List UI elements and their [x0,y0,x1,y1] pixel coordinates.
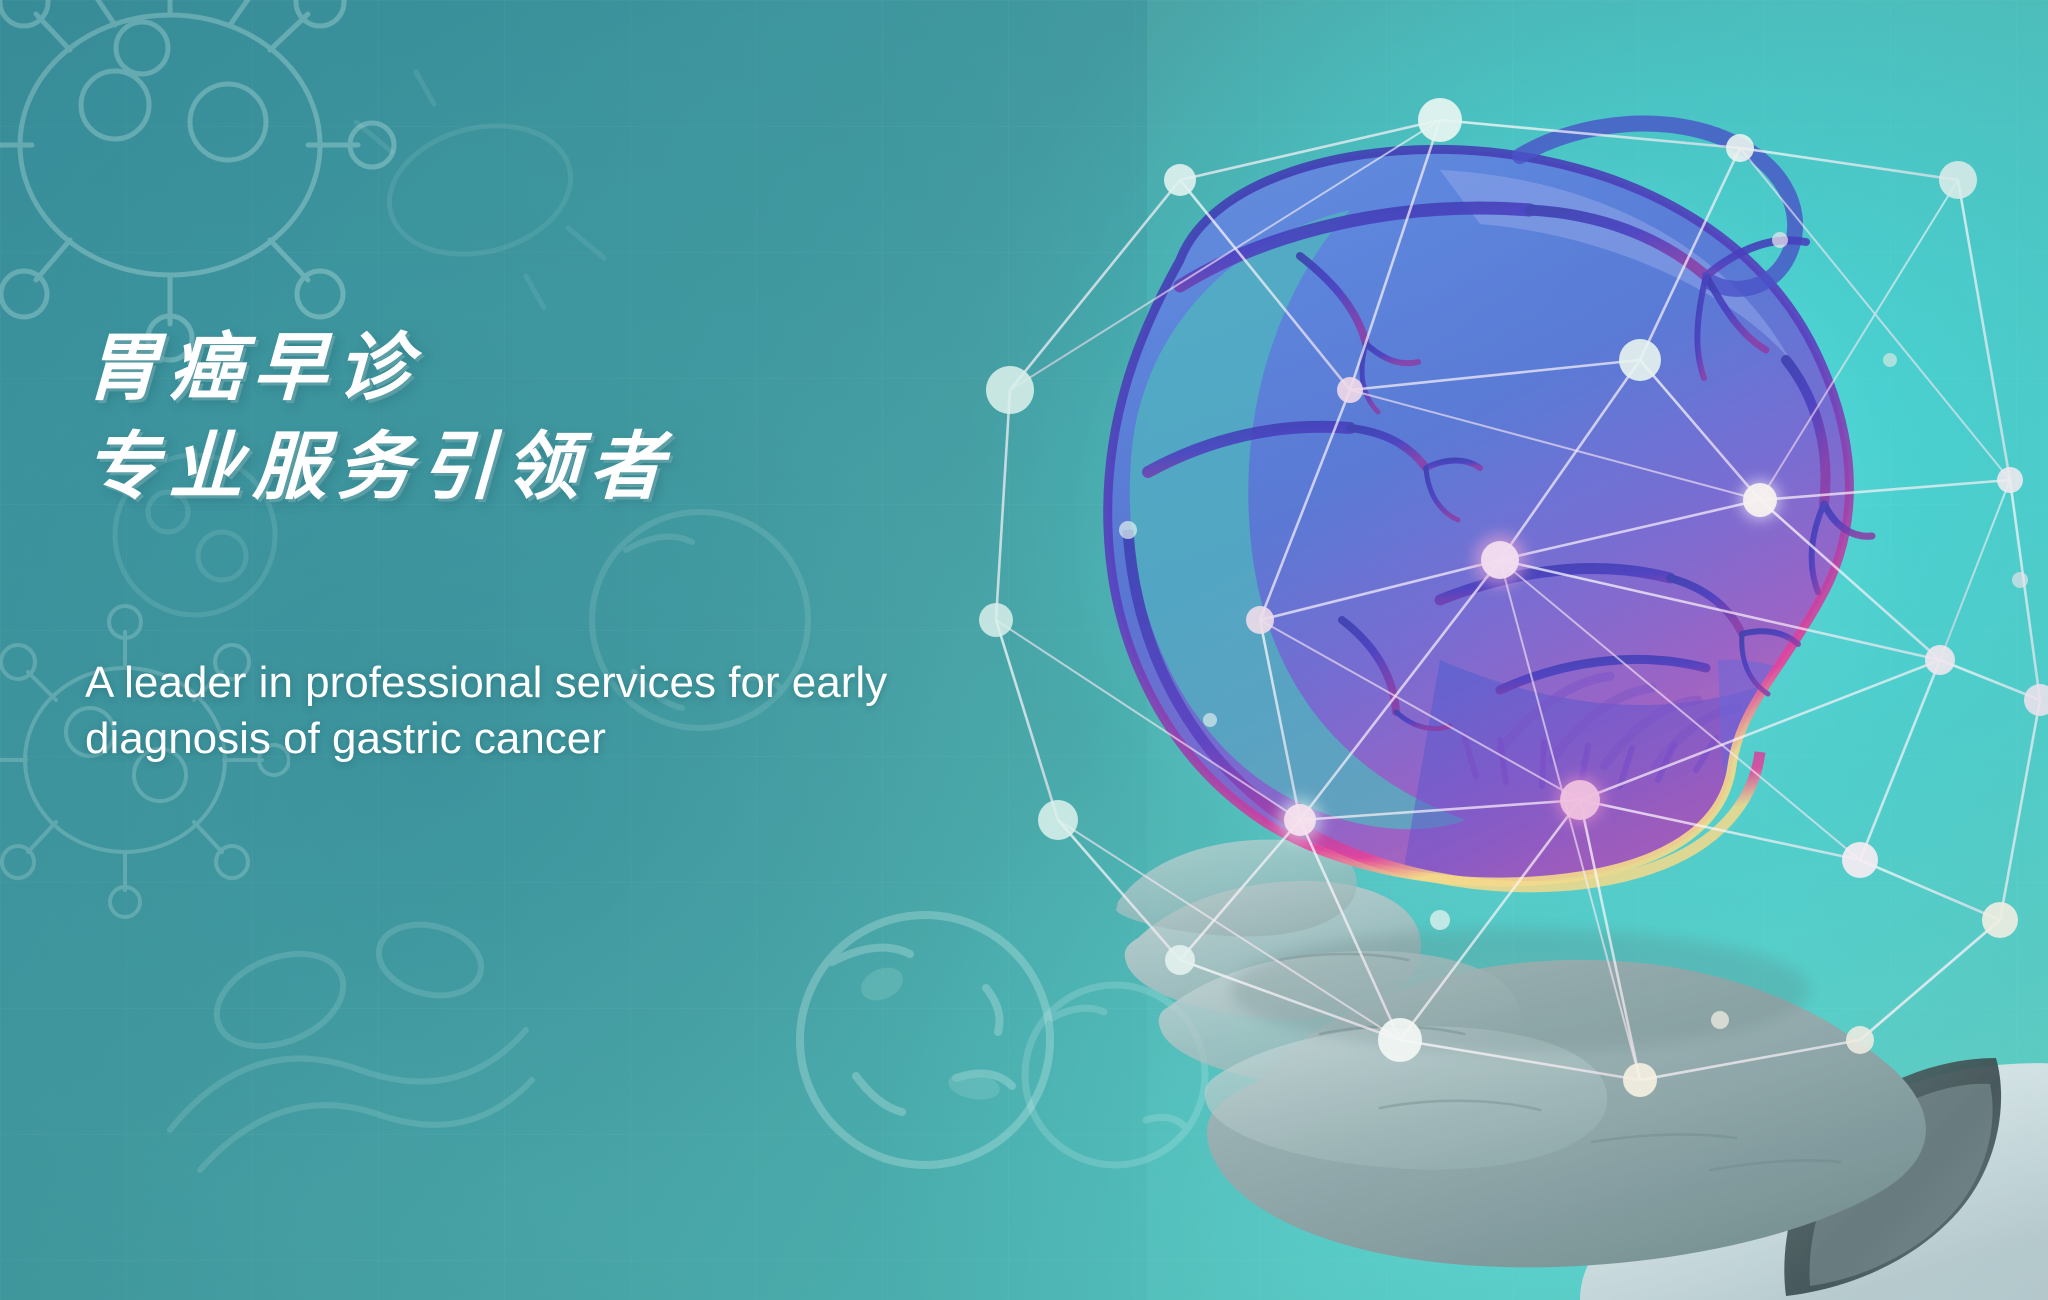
subtitle-block: A leader in professional services for ea… [85,655,985,768]
headline-block: 胃癌早诊 专业服务引领者 [85,325,985,510]
headline-line-1: 胃癌早诊 [83,325,986,412]
subtitle-line-2: diagnosis of gastric cancer [85,711,985,767]
background-vignette [0,0,2048,1300]
hero-banner: 胃癌早诊 专业服务引领者 A leader in professional se… [0,0,2048,1300]
subtitle-line-1: A leader in professional services for ea… [85,655,985,711]
headline-line-2: 专业服务引领者 [83,424,986,511]
